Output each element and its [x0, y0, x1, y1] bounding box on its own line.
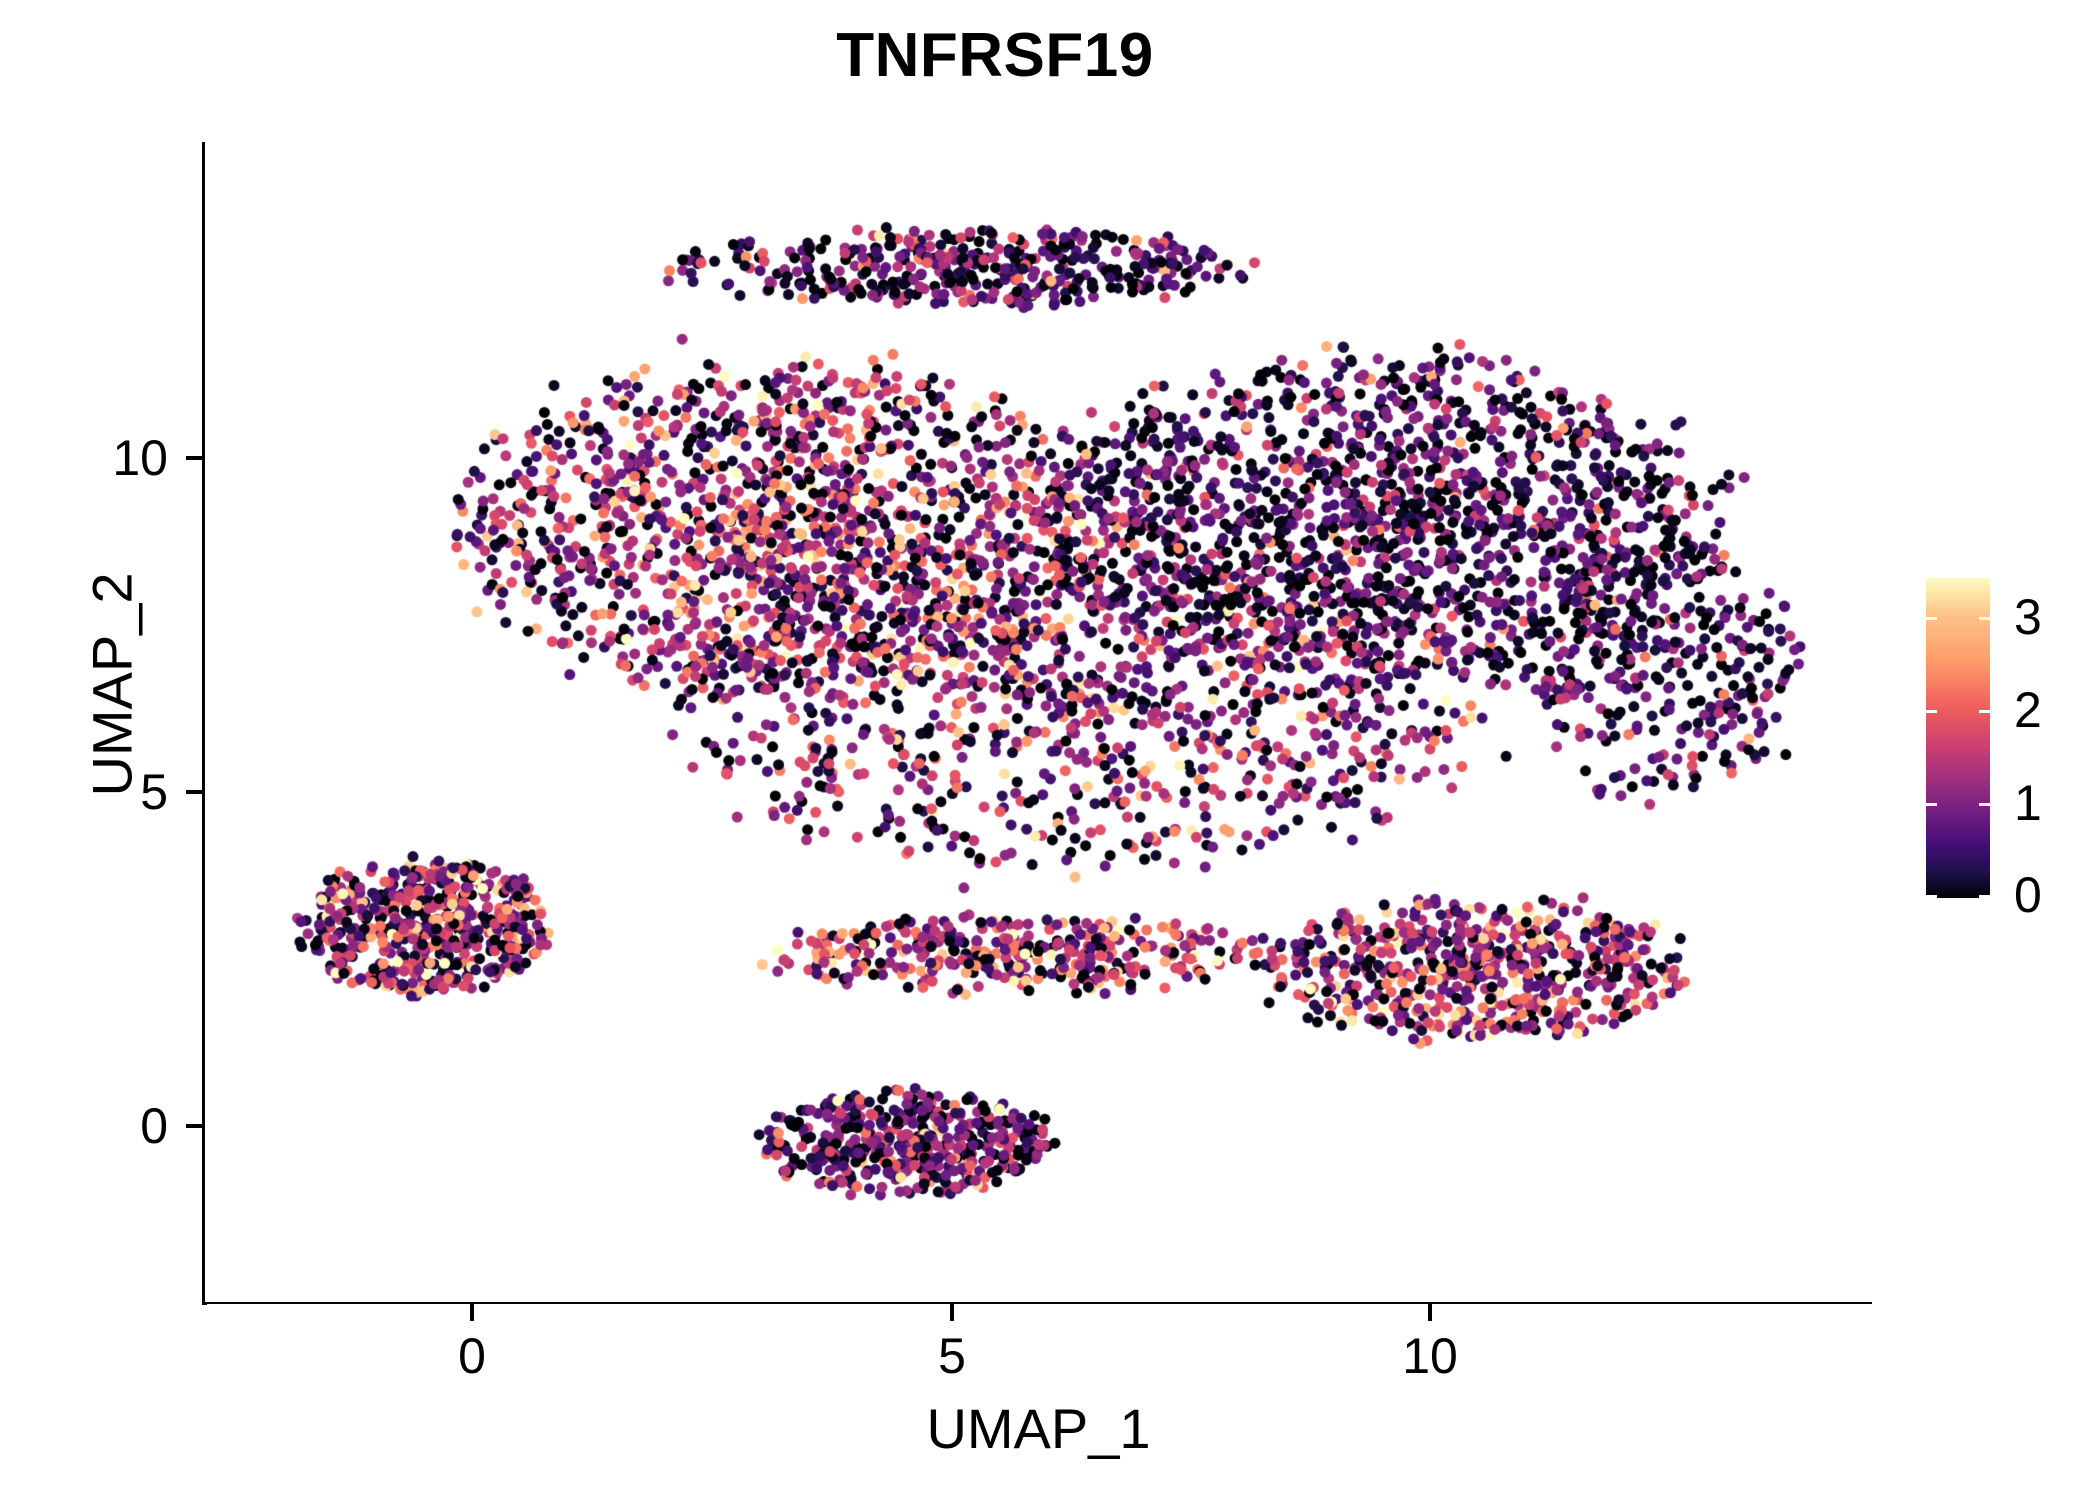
x-tick-mark-5 — [950, 1304, 954, 1321]
y-tick-mark-5 — [186, 790, 203, 794]
colorbar-tick-0-left — [1926, 895, 1937, 898]
colorbar-tick-3-right — [1979, 617, 1990, 620]
scatter-points-canvas — [205, 142, 1872, 1302]
colorbar-label-3: 3 — [2014, 588, 2042, 646]
x-tick-mark-10 — [1428, 1304, 1432, 1321]
x-tick-label-10: 10 — [1402, 1327, 1458, 1385]
x-tick-label-5: 5 — [938, 1327, 966, 1385]
y-axis-title: UMAP_2 — [80, 105, 145, 1265]
colorbar-legend: 3 2 1 0 — [1926, 578, 1990, 898]
colorbar-gradient — [1926, 578, 1990, 898]
colorbar-tick-2-left — [1926, 710, 1937, 713]
colorbar-tick-2-right — [1979, 710, 1990, 713]
x-tick-mark-0 — [470, 1304, 474, 1321]
colorbar-tick-1-left — [1926, 803, 1937, 806]
page-title: TNFRSF19 — [0, 20, 2045, 91]
x-axis-title: UMAP_1 — [205, 1396, 1872, 1461]
umap-feature-plot: TNFRSF19 0 5 10 10 5 0 UMAP_1 UMAP_2 3 2… — [0, 0, 2100, 1500]
y-tick-mark-0 — [186, 1124, 203, 1128]
y-tick-mark-10 — [186, 456, 203, 460]
colorbar-label-0: 0 — [2014, 866, 2042, 924]
colorbar-tick-1-right — [1979, 803, 1990, 806]
x-tick-label-0: 0 — [458, 1327, 486, 1385]
colorbar-tick-0-right — [1979, 895, 1990, 898]
colorbar-label-1: 1 — [2014, 774, 2042, 832]
colorbar-label-2: 2 — [2014, 681, 2042, 739]
colorbar-tick-3-left — [1926, 617, 1937, 620]
